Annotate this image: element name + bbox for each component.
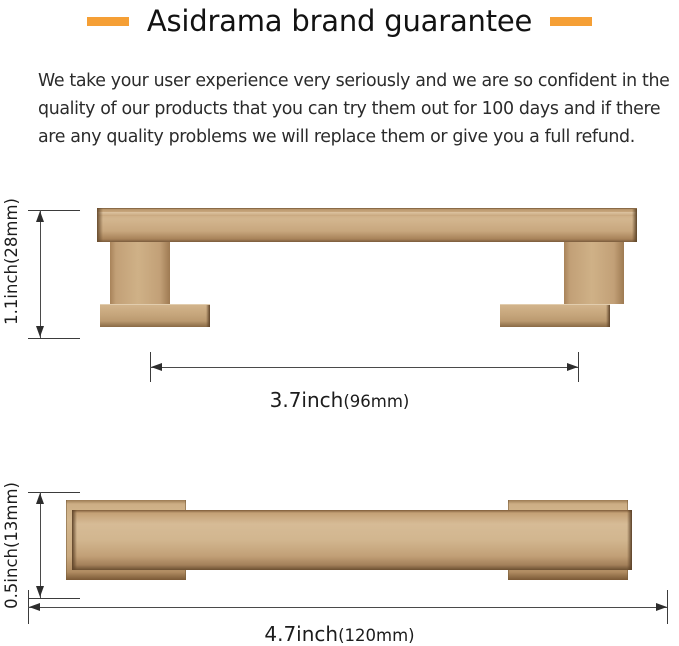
pull-post-left bbox=[110, 242, 170, 304]
thickness-arrow-up-icon bbox=[36, 493, 44, 504]
accent-dash-right-icon bbox=[550, 17, 592, 26]
pull-grip-bar-top bbox=[72, 510, 632, 570]
figure-top-plan: 0.5inch(13mm) 4.7inch(120mm) bbox=[0, 450, 679, 646]
accent-dash-left-icon bbox=[87, 17, 129, 26]
thickness-arrow-down-icon bbox=[36, 586, 44, 597]
figure-front-elevation: 1.1inch(28mm) 3.7inch(96mm) bbox=[0, 180, 679, 415]
width-dimension-inch: 3.7inch bbox=[270, 388, 344, 412]
pull-base-plate-right bbox=[500, 304, 610, 327]
height-dimension-line bbox=[40, 210, 41, 338]
pull-grip-bar-left-cap bbox=[97, 208, 103, 242]
width-arrow-right-icon bbox=[567, 363, 578, 371]
pull-grip-bar bbox=[97, 208, 637, 242]
width-dimension-label: 3.7inch(96mm) bbox=[0, 388, 679, 412]
pull-grip-bar-top-left-cap bbox=[72, 510, 77, 570]
thickness-witness-line-bottom bbox=[28, 598, 80, 599]
length-dimension-label: 4.7inch(120mm) bbox=[0, 622, 679, 646]
thickness-dimension-line bbox=[40, 492, 41, 598]
length-arrow-right-icon bbox=[656, 603, 667, 611]
pull-base-plate-left bbox=[100, 304, 210, 327]
page-title: Asidrama brand guarantee bbox=[147, 7, 532, 36]
thickness-dimension-label: 0.5inch(13mm) bbox=[2, 482, 21, 609]
height-arrow-down-icon bbox=[36, 326, 44, 337]
length-dimension-mm: (120mm) bbox=[338, 626, 415, 645]
width-dimension-mm: (96mm) bbox=[343, 392, 409, 411]
length-dimension-inch: 4.7inch bbox=[264, 622, 338, 646]
brand-header: Asidrama brand guarantee bbox=[0, 0, 679, 42]
width-arrow-left-icon bbox=[151, 363, 162, 371]
height-dimension-label: 1.1inch(28mm) bbox=[2, 198, 21, 325]
height-arrow-up-icon bbox=[36, 211, 44, 222]
length-witness-line-right bbox=[667, 590, 668, 624]
width-dimension-line bbox=[150, 367, 578, 368]
width-witness-line-right bbox=[578, 352, 579, 382]
pull-post-right bbox=[564, 242, 624, 304]
guarantee-description: We take your user experience very seriou… bbox=[38, 67, 672, 151]
height-witness-line-bottom bbox=[28, 338, 80, 339]
length-arrow-left-icon bbox=[29, 603, 40, 611]
length-dimension-line bbox=[28, 607, 667, 608]
